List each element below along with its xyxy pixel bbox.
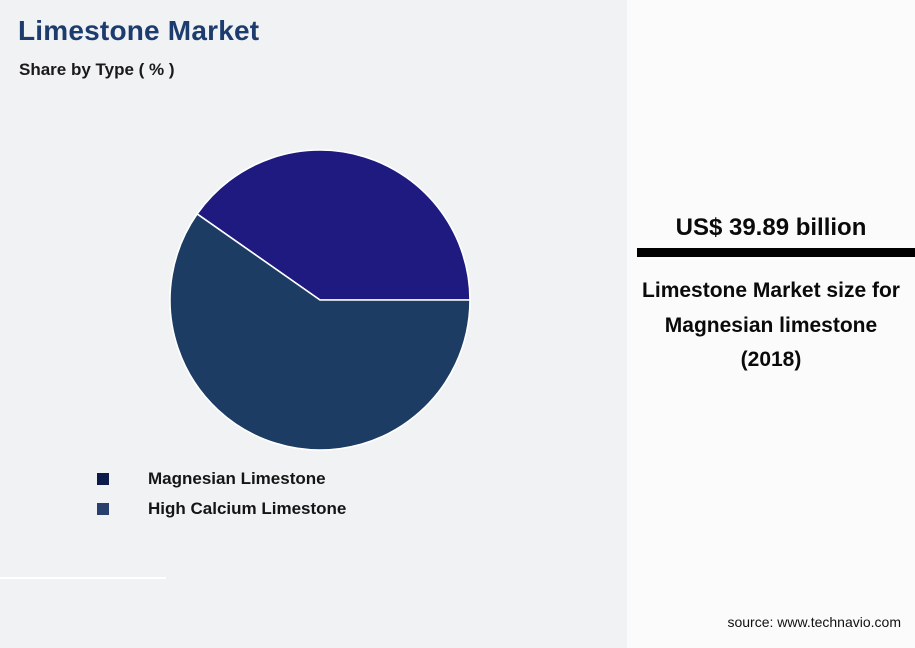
legend-swatch-icon (97, 503, 109, 515)
legend-item-magnesian-limestone[interactable]: Magnesian Limestone (97, 464, 346, 494)
stat-value: US$ 39.89 billion (627, 214, 915, 242)
legend-swatch-icon (97, 473, 109, 485)
chart-legend: Magnesian Limestone High Calcium Limesto… (97, 464, 346, 524)
chart-subtitle: Share by Type ( % ) (19, 60, 175, 80)
source-label: source: www.technavio.com (627, 614, 901, 630)
stat-panel: US$ 39.89 billion Limestone Market size … (627, 0, 915, 648)
bottom-divider (0, 577, 166, 579)
stat-caption: Limestone Market size for Magnesian lime… (641, 274, 901, 378)
legend-item-label: High Calcium Limestone (148, 499, 346, 519)
legend-item-label: Magnesian Limestone (148, 469, 326, 489)
pie-chart (170, 150, 470, 450)
stat-divider (637, 248, 915, 257)
pie-chart-svg (170, 150, 470, 450)
legend-item-high-calcium-limestone[interactable]: High Calcium Limestone (97, 494, 346, 524)
page-title: Limestone Market (18, 15, 259, 47)
chart-panel: Limestone Market Share by Type ( % ) Mag… (0, 0, 627, 648)
